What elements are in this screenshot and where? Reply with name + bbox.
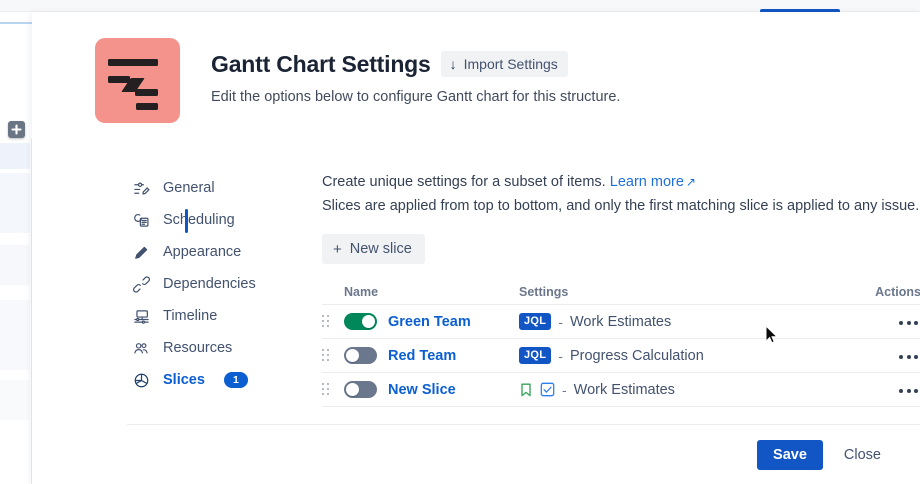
sidebar-item-timeline[interactable]: Timeline <box>132 300 287 332</box>
slice-actions-cell <box>853 312 920 331</box>
left-panel-placeholder-2 <box>0 173 30 233</box>
drag-handle-icon[interactable] <box>322 349 344 362</box>
title-row: Gantt Chart Settings ↓ Import Settings <box>211 50 620 78</box>
sidebar-item-scheduling[interactable]: Scheduling <box>132 204 287 236</box>
download-arrow-icon: ↓ <box>450 57 457 71</box>
more-horizontal-icon[interactable] <box>896 383 920 399</box>
sidebar-item-appearance[interactable]: Appearance <box>132 236 287 268</box>
more-horizontal-icon[interactable] <box>896 315 920 331</box>
left-panel-placeholder-3 <box>0 245 30 285</box>
jql-badge[interactable]: JQL <box>519 347 551 364</box>
sidebar-item-label: General <box>163 180 215 196</box>
learn-more-link[interactable]: Learn more↗ <box>610 174 696 190</box>
plus-panel-icon[interactable] <box>8 121 25 138</box>
slice-settings-cell: JQL - Progress Calculation <box>519 347 853 364</box>
settings-dialog: Gantt Chart Settings ↓ Import Settings E… <box>32 12 920 484</box>
table-row: Green Team JQL - Work Estimates <box>322 304 920 338</box>
close-button[interactable]: Close <box>833 440 892 470</box>
slice-name-cell: Red Team <box>344 347 519 364</box>
import-settings-button[interactable]: ↓ Import Settings <box>441 51 568 77</box>
slices-count-badge: 1 <box>224 372 248 388</box>
gantt-chart-icon <box>95 38 180 123</box>
slices-table: Name Settings Actions Green Team JQL <box>322 280 920 407</box>
sidebar-item-label: Scheduling <box>163 212 235 228</box>
import-settings-label: Import Settings <box>464 56 558 72</box>
slice-settings-cell: JQL - Work Estimates <box>519 313 853 330</box>
slice-toggle[interactable] <box>344 347 377 364</box>
slice-name-link[interactable]: Green Team <box>388 314 471 330</box>
slice-actions-cell <box>853 380 920 399</box>
checkbox-icon[interactable] <box>540 382 555 397</box>
separator-dash: - <box>562 382 567 398</box>
left-panel-placeholder-1 <box>0 143 30 169</box>
pencil-icon <box>132 243 150 261</box>
column-header-settings: Settings <box>519 285 853 299</box>
dialog-header-text: Gantt Chart Settings ↓ Import Settings E… <box>211 38 620 107</box>
slice-settings-cell: - Work Estimates <box>519 382 853 398</box>
sidebar-item-dependencies[interactable]: Dependencies <box>132 268 287 300</box>
left-panel-placeholder-4 <box>0 300 30 370</box>
slices-description: Create unique settings for a subset of i… <box>322 172 920 217</box>
table-header-row: Name Settings Actions <box>322 280 920 304</box>
slices-panel: Create unique settings for a subset of i… <box>322 172 920 407</box>
sidebar-item-resources[interactable]: Resources <box>132 332 287 364</box>
sliders-pencil-icon <box>132 179 150 197</box>
left-panel-placeholder-5 <box>0 380 30 420</box>
pie-chart-icon <box>132 371 150 389</box>
slice-toggle[interactable] <box>344 381 377 398</box>
separator-dash: - <box>558 314 563 330</box>
slice-name-link[interactable]: New Slice <box>388 382 456 398</box>
lede-line-1: Create unique settings for a subset of i… <box>322 174 606 190</box>
slice-settings-label: Progress Calculation <box>570 348 704 364</box>
slice-name-cell: Green Team <box>344 313 519 330</box>
new-slice-button[interactable]: + New slice <box>322 234 425 264</box>
link-icon <box>132 275 150 293</box>
sidebar-item-label: Appearance <box>163 244 241 260</box>
nav-active-indicator <box>185 209 188 233</box>
slice-name-link[interactable]: Red Team <box>388 348 456 364</box>
slice-actions-cell <box>853 346 920 365</box>
jql-badge[interactable]: JQL <box>519 313 551 330</box>
column-header-actions: Actions <box>853 285 920 299</box>
sidebar-item-general[interactable]: General <box>132 172 287 204</box>
dialog-footer: Save Close <box>757 440 892 470</box>
drag-handle-icon[interactable] <box>322 383 344 396</box>
sidebar-item-label: Slices <box>163 372 205 388</box>
settings-nav: General Scheduling App <box>132 172 287 396</box>
table-row: Red Team JQL - Progress Calculation <box>322 338 920 372</box>
external-link-icon: ↗ <box>686 175 696 189</box>
slice-name-cell: New Slice <box>344 381 519 398</box>
learn-more-label: Learn more <box>610 174 684 190</box>
separator-dash: - <box>558 348 563 364</box>
monitor-icon <box>132 307 150 325</box>
slice-settings-label: Work Estimates <box>570 314 671 330</box>
new-slice-label: New slice <box>350 241 412 257</box>
dialog-header: Gantt Chart Settings ↓ Import Settings E… <box>95 38 620 123</box>
save-button[interactable]: Save <box>757 440 823 470</box>
lede-line-2: Slices are applied from top to bottom, a… <box>322 196 920 217</box>
plus-icon: + <box>333 242 342 257</box>
column-header-name: Name <box>344 285 519 299</box>
drag-handle-icon[interactable] <box>322 315 344 328</box>
screen: Gantt Chart Settings ↓ Import Settings E… <box>0 0 920 484</box>
bookmark-icon[interactable] <box>519 382 533 398</box>
sidebar-item-label: Resources <box>163 340 232 356</box>
slice-toggle[interactable] <box>344 313 377 330</box>
footer-divider <box>127 424 920 425</box>
calendar-clock-icon <box>132 211 150 229</box>
more-horizontal-icon[interactable] <box>896 349 920 365</box>
sidebar-item-label: Dependencies <box>163 276 256 292</box>
page-subtitle: Edit the options below to configure Gant… <box>211 87 620 107</box>
page-title: Gantt Chart Settings <box>211 50 431 78</box>
table-row: New Slice <box>322 372 920 407</box>
people-icon <box>132 339 150 357</box>
sidebar-item-slices[interactable]: Slices 1 <box>132 364 287 396</box>
slice-settings-label: Work Estimates <box>574 382 675 398</box>
sidebar-item-label: Timeline <box>163 308 217 324</box>
